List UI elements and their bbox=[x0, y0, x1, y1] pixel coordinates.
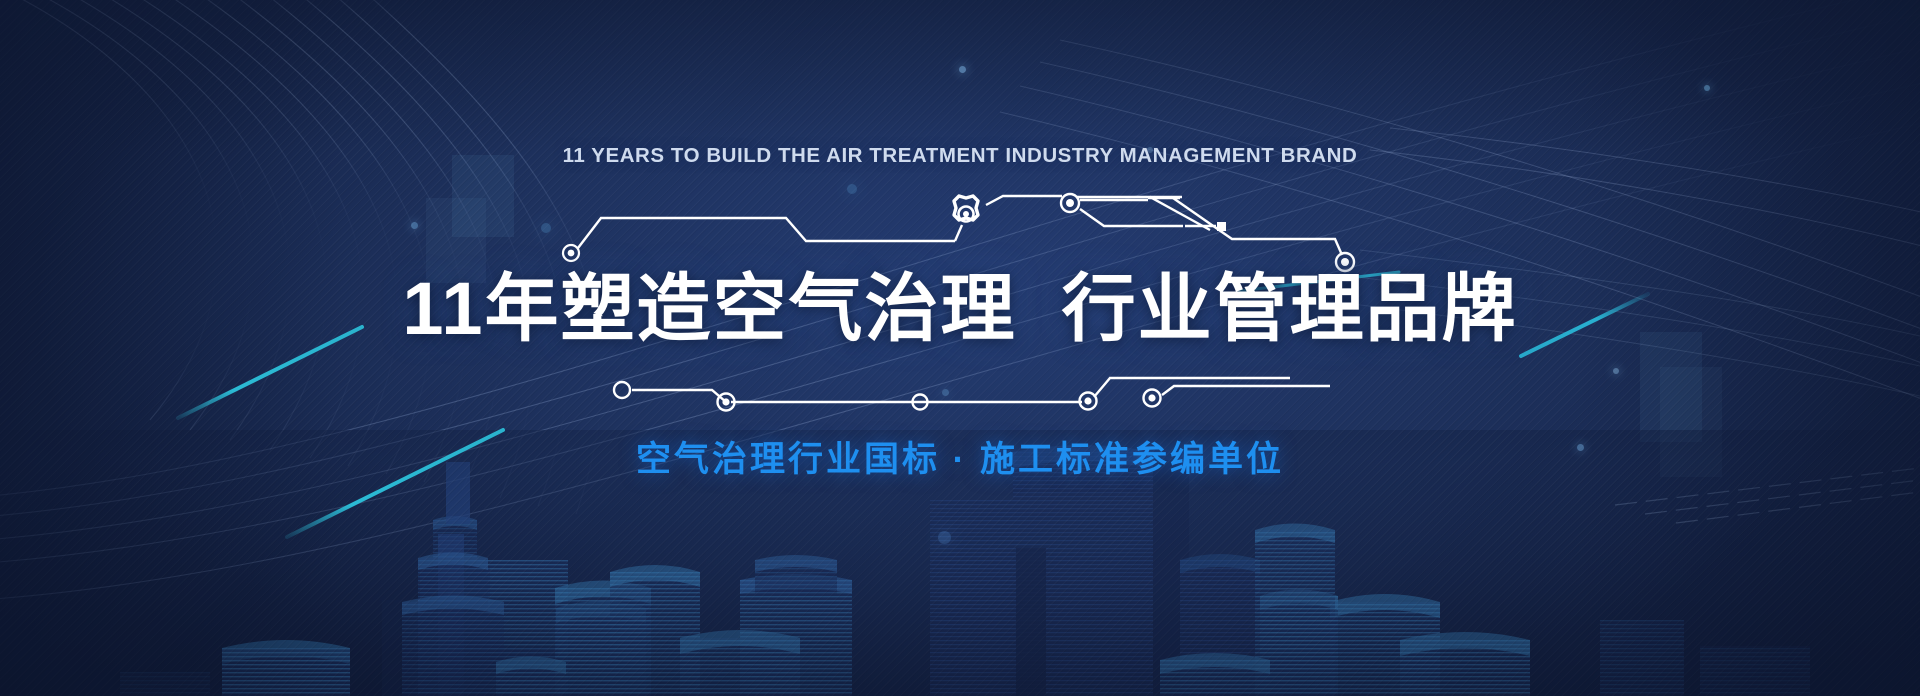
banner-eyebrow-text: 11 YEARS TO BUILD THE AIR TREATMENT INDU… bbox=[0, 144, 1920, 168]
hero-banner: 11 YEARS TO BUILD THE AIR TREATMENT INDU… bbox=[0, 0, 1920, 696]
banner-content: 11 YEARS TO BUILD THE AIR TREATMENT INDU… bbox=[0, 0, 1920, 696]
banner-subtitle: 空气治理行业国标 · 施工标准参编单位 bbox=[0, 442, 1920, 477]
banner-headline: 11年塑造空气治理 行业管理品牌 bbox=[0, 272, 1920, 346]
